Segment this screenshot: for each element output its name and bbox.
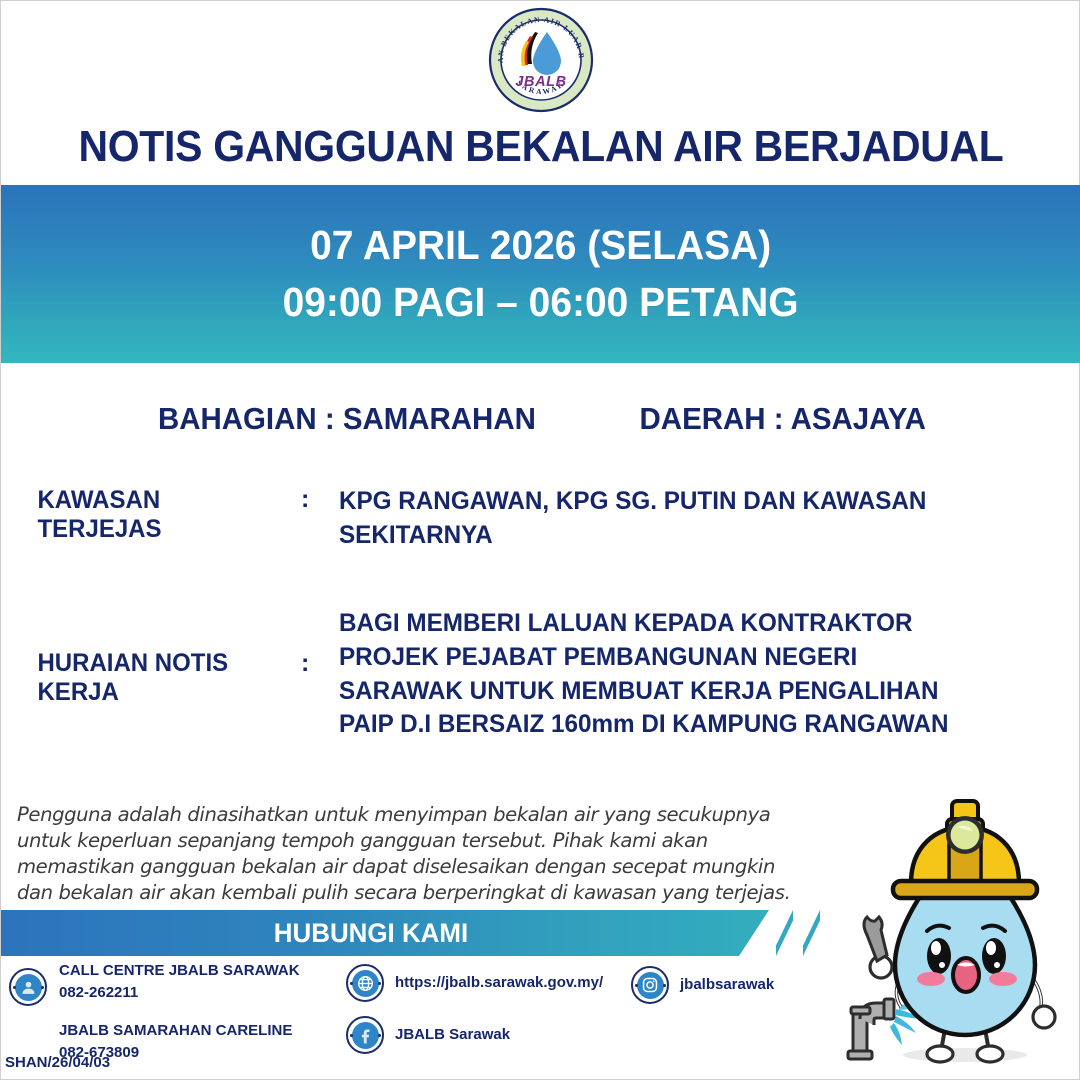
contact-group-web: https://jbalb.sarawak.gov.my/ JBALB Sara… <box>346 964 603 1054</box>
affected-area-colon: : <box>301 485 339 514</box>
banner-date: 07 APRIL 2026 (SELASA) <box>310 222 771 269</box>
region-row: BAHAGIAN : SAMARAHAN DAERAH : ASAJAYA <box>1 401 1080 437</box>
affected-area-label: KAWASAN TERJEJAS <box>1 485 289 544</box>
page-title: NOTIS GANGGUAN BEKALAN AIR BERJADUAL <box>39 122 1043 172</box>
district-label: DAERAH : ASAJAYA <box>640 401 926 437</box>
contact-group-phone: CALL CENTRE JBALB SARAWAK 082-262211 JBA… <box>9 960 339 1064</box>
mascot-blush-left <box>917 972 945 986</box>
work-description-label: HURAIAN NOTIS KERJA <box>1 607 289 707</box>
call-centre-phone[interactable]: 082-262211 <box>59 982 300 1004</box>
website-item[interactable]: https://jbalb.sarawak.gov.my/ <box>346 964 603 1002</box>
leaking-pipe-icon <box>848 999 894 1059</box>
mascot-shadow <box>903 1048 1027 1062</box>
work-description-value: BAGI MEMBERI LALUAN KEPADA KONTRAKTOR PR… <box>339 607 1059 742</box>
instagram-glyph <box>641 976 659 994</box>
mascot-right-arm <box>1033 979 1055 1028</box>
globe-glyph <box>356 974 375 993</box>
date-time-banner: 07 APRIL 2026 (SELASA) 09:00 PAGI – 06:0… <box>1 185 1080 363</box>
facebook-glyph <box>356 1026 375 1045</box>
contact-group-social: jbalbsarawak <box>631 966 774 1004</box>
mascot-blush-right <box>989 972 1017 986</box>
reference-code: SHAN/26/04/03 <box>5 1054 110 1071</box>
affected-area-value: KPG RANGAWAN, KPG SG. PUTIN DAN KAWASAN … <box>339 485 1059 553</box>
call-centre-title: CALL CENTRE JBALB SARAWAK <box>59 960 300 982</box>
hard-hat-icon <box>893 801 1037 898</box>
globe-icon <box>346 964 384 1002</box>
instagram-icon <box>631 966 669 1004</box>
field-work-description: HURAIAN NOTIS KERJA : BAGI MEMBERI LALUA… <box>1 607 1080 742</box>
division-label: BAHAGIAN : SAMARAHAN <box>158 401 536 437</box>
website-value[interactable]: https://jbalb.sarawak.gov.my/ <box>395 972 603 994</box>
person-glyph <box>20 979 37 996</box>
bar-stripe-2 <box>803 910 820 956</box>
work-description-colon: : <box>301 607 339 678</box>
facebook-value[interactable]: JBALB Sarawak <box>395 1024 510 1046</box>
wrench-icon <box>864 917 887 961</box>
careline-title: JBALB SAMARAHAN CARELINE <box>59 1020 339 1042</box>
banner-time: 09:00 PAGI – 06:00 PETANG <box>283 279 799 326</box>
person-icon <box>9 968 47 1006</box>
bar-stripe-1 <box>776 910 793 956</box>
instagram-item[interactable]: jbalbsarawak <box>631 966 774 1004</box>
facebook-icon <box>346 1016 384 1054</box>
field-affected-area: KAWASAN TERJEJAS : KPG RANGAWAN, KPG SG.… <box>1 485 1080 553</box>
logo-container: JABATAN BEKALAN AIR LUAR BANDAR SARAWAK … <box>1 7 1080 115</box>
call-centre-block: CALL CENTRE JBALB SARAWAK 082-262211 <box>59 960 300 1004</box>
mascot-svg <box>837 789 1080 1081</box>
mascot-right-hand <box>1033 1006 1055 1028</box>
jbalb-logo-svg: JABATAN BEKALAN AIR LUAR BANDAR SARAWAK … <box>488 7 594 113</box>
instagram-value[interactable]: jbalbsarawak <box>680 974 774 996</box>
facebook-item[interactable]: JBALB Sarawak <box>346 1016 603 1054</box>
logo-wordmark: JBALB <box>515 74 566 90</box>
water-droplet-mascot <box>837 789 1080 1081</box>
jbalb-logo: JABATAN BEKALAN AIR LUAR BANDAR SARAWAK … <box>488 7 594 113</box>
contact-bar-label: HUBUNGI KAMI <box>16 910 726 956</box>
